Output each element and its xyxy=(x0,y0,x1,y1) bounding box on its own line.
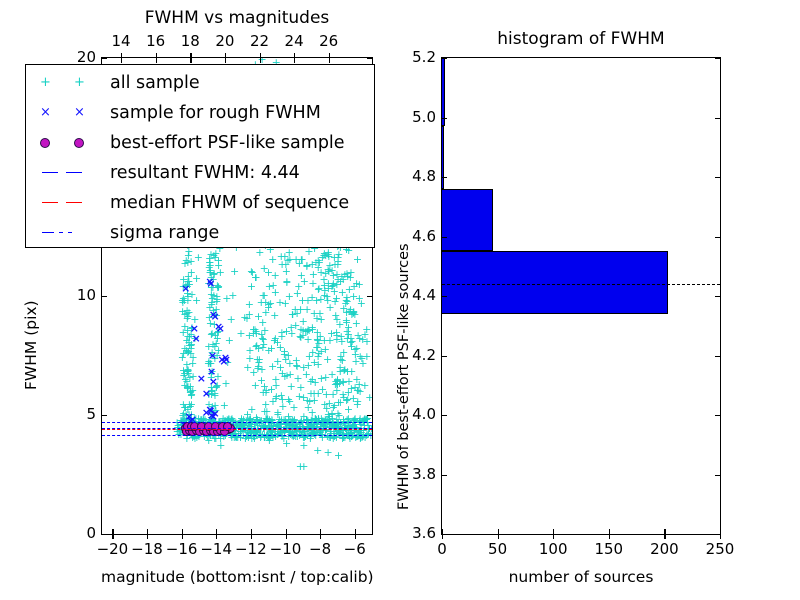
scatter-point-all: + xyxy=(206,250,215,259)
scatter-point-all: + xyxy=(338,377,347,386)
scatter-point-all: + xyxy=(353,255,362,264)
histogram-ytick xyxy=(715,356,720,357)
scatter-top-xtick-label: 20 xyxy=(211,34,239,49)
scatter-point-rough: × xyxy=(205,277,214,286)
scatter-point-all: + xyxy=(251,273,260,282)
scatter-point-all: + xyxy=(327,409,336,418)
scatter-point-all: + xyxy=(334,253,343,262)
scatter-point-all: + xyxy=(214,327,223,336)
scatter-point-all: + xyxy=(357,426,366,435)
scatter-point-all: + xyxy=(271,288,280,297)
scatter-point-all: + xyxy=(179,328,188,337)
scatter-point-all: + xyxy=(271,375,280,384)
scatter-point-all: + xyxy=(325,336,334,345)
scatter-point-all: + xyxy=(291,321,300,330)
scatter-point-all: + xyxy=(187,390,196,399)
scatter-point-all: + xyxy=(272,392,281,401)
scatter-point-all: + xyxy=(350,415,359,424)
scatter-point-all: + xyxy=(271,334,280,343)
scatter-point-all: + xyxy=(293,362,302,371)
scatter-point-all: + xyxy=(340,423,349,432)
scatter-point-all: + xyxy=(214,261,223,270)
scatter-point-all: + xyxy=(188,418,197,427)
scatter-point-all: + xyxy=(344,330,353,339)
scatter-xtick xyxy=(216,534,217,539)
scatter-point-all: + xyxy=(308,293,317,302)
scatter-point-all: + xyxy=(284,351,293,360)
scatter-xtick xyxy=(355,534,356,539)
scatter-point-all: + xyxy=(207,413,216,422)
scatter-point-all: + xyxy=(343,367,352,376)
scatter-point-all: + xyxy=(320,419,329,428)
scatter-point-all: + xyxy=(325,412,334,421)
scatter-point-all: + xyxy=(325,261,334,270)
scatter-point-all: + xyxy=(314,339,323,348)
scatter-top-xtick xyxy=(121,58,122,63)
scatter-point-all: + xyxy=(305,352,314,361)
scatter-point-all: + xyxy=(181,375,190,384)
scatter-point-all: + xyxy=(205,313,214,322)
scatter-point-all: + xyxy=(187,410,196,419)
scatter-point-all: + xyxy=(198,423,207,432)
scatter-point-all: + xyxy=(262,386,271,395)
scatter-point-all: + xyxy=(183,289,192,298)
legend-entry-label: all sample xyxy=(110,73,200,93)
scatter-point-all: + xyxy=(351,350,360,359)
scatter-point-all: + xyxy=(192,274,201,283)
scatter-point-all: + xyxy=(267,344,276,353)
scatter-point-all: + xyxy=(320,281,329,290)
scatter-point-all: + xyxy=(314,389,323,398)
scatter-point-all: + xyxy=(243,410,252,419)
scatter-point-all: + xyxy=(333,419,342,428)
scatter-point-all: + xyxy=(183,282,192,291)
histogram-bar xyxy=(442,251,668,314)
scatter-point-all: + xyxy=(318,418,327,427)
scatter-point-all: + xyxy=(349,292,358,301)
scatter-point-all: + xyxy=(324,279,333,288)
scatter-point-all: + xyxy=(342,308,351,317)
scatter-point-all: + xyxy=(324,252,333,261)
scatter-point-all: + xyxy=(182,309,191,318)
scatter-point-all: + xyxy=(178,298,187,307)
scatter-point-all: + xyxy=(336,398,345,407)
scatter-point-all: + xyxy=(179,371,188,380)
scatter-point-all: + xyxy=(325,399,334,408)
histogram-ytick xyxy=(442,534,447,535)
scatter-point-all: + xyxy=(346,305,355,314)
scatter-point-all: + xyxy=(331,377,340,386)
scatter-point-all: + xyxy=(186,349,195,358)
scatter-point-all: + xyxy=(212,311,221,320)
scatter-point-all: + xyxy=(280,350,289,359)
scatter-point-all: + xyxy=(255,248,264,257)
scatter-point-all: + xyxy=(321,345,330,354)
scatter-point-all: + xyxy=(259,291,268,300)
scatter-point-all: + xyxy=(282,327,291,336)
scatter-point-all: + xyxy=(334,451,343,460)
scatter-point-all: + xyxy=(289,403,298,412)
scatter-point-all: + xyxy=(250,432,259,441)
scatter-point-all: + xyxy=(249,432,258,441)
scatter-point-all: + xyxy=(182,336,191,345)
scatter-point-all: + xyxy=(345,432,354,441)
scatter-point-all: + xyxy=(295,419,304,428)
scatter-point-all: + xyxy=(207,298,216,307)
scatter-point-all: + xyxy=(340,366,349,375)
scatter-point-all: + xyxy=(308,408,317,417)
scatter-point-all: + xyxy=(180,344,189,353)
scatter-point-all: + xyxy=(283,256,292,265)
scatter-point-all: + xyxy=(320,336,329,345)
scatter-point-all: + xyxy=(322,404,331,413)
scatter-point-all: + xyxy=(336,277,345,286)
scatter-point-all: + xyxy=(221,418,230,427)
scatter-point-all: + xyxy=(184,338,193,347)
scatter-point-rough: × xyxy=(217,355,226,364)
scatter-point-rough: × xyxy=(221,353,230,362)
scatter-point-all: + xyxy=(299,433,308,442)
scatter-point-all: + xyxy=(225,415,234,424)
scatter-point-all: + xyxy=(264,433,273,442)
scatter-point-all: + xyxy=(249,329,258,338)
scatter-ytick xyxy=(367,534,372,535)
scatter-point-all: + xyxy=(204,389,213,398)
scatter-point-all: + xyxy=(186,388,195,397)
scatter-point-all: + xyxy=(257,376,266,385)
scatter-point-all: + xyxy=(245,300,254,309)
scatter-point-all: + xyxy=(331,311,340,320)
scatter-point-all: + xyxy=(314,263,323,272)
scatter-point-all: + xyxy=(183,296,192,305)
scatter-point-all: + xyxy=(313,446,322,455)
scatter-point-all: + xyxy=(352,279,361,288)
scatter-point-rough: × xyxy=(219,357,228,366)
histogram-ytick xyxy=(442,237,447,238)
scatter-point-all: + xyxy=(260,382,269,391)
scatter-point-all: + xyxy=(182,410,191,419)
scatter-point-all: + xyxy=(300,433,309,442)
scatter-point-all: + xyxy=(267,426,276,435)
scatter-ytick xyxy=(102,534,107,535)
scatter-point-all: + xyxy=(344,388,353,397)
scatter-point-all: + xyxy=(210,391,219,400)
histogram-ytick-label: 4.6 xyxy=(398,229,436,244)
scatter-point-all: + xyxy=(298,331,307,340)
dashed-line-icon xyxy=(42,172,58,173)
scatter-point-all: + xyxy=(324,448,333,457)
scatter-point-all: + xyxy=(340,365,349,374)
scatter-point-all: + xyxy=(317,374,326,383)
scatter-point-all: + xyxy=(357,433,366,442)
scatter-point-all: + xyxy=(330,260,339,269)
scatter-point-all: + xyxy=(335,411,344,420)
scatter-point-all: + xyxy=(320,286,329,295)
histogram-bar xyxy=(442,189,493,252)
histogram-ytick xyxy=(715,296,720,297)
scatter-point-all: + xyxy=(179,409,188,418)
scatter-point-all: + xyxy=(319,419,328,428)
scatter-point-all: + xyxy=(347,342,356,351)
legend-symbol xyxy=(32,218,110,248)
scatter-ylabel: FWHM (pix) xyxy=(22,300,40,390)
scatter-point-all: + xyxy=(305,326,314,335)
scatter-point-all: + xyxy=(265,433,274,442)
scatter-point-all: + xyxy=(183,326,192,335)
scatter-point-all: + xyxy=(347,310,356,319)
scatter-point-all: + xyxy=(278,369,287,378)
histogram-ytick-label: 4.2 xyxy=(398,348,436,363)
scatter-point-all: + xyxy=(351,345,360,354)
scatter-point-all: + xyxy=(180,296,189,305)
scatter-point-all: + xyxy=(313,343,322,352)
scatter-point-all: + xyxy=(265,436,274,445)
scatter-point-all: + xyxy=(309,270,318,279)
scatter-point-all: + xyxy=(213,372,222,381)
scatter-point-all: + xyxy=(356,426,365,435)
scatter-point-all: + xyxy=(262,415,271,424)
scatter-point-all: + xyxy=(357,299,366,308)
scatter-xtick-label: −14 xyxy=(200,542,232,557)
scatter-point-all: + xyxy=(186,382,195,391)
scatter-point-all: + xyxy=(248,268,257,277)
scatter-point-all: + xyxy=(362,352,371,361)
scatter-point-all: + xyxy=(281,355,290,364)
scatter-point-all: + xyxy=(281,299,290,308)
scatter-point-all: + xyxy=(212,305,221,314)
histogram-ytick-label: 4.4 xyxy=(398,288,436,303)
scatter-point-all: + xyxy=(236,329,245,338)
scatter-point-all: + xyxy=(334,275,343,284)
scatter-point-all: + xyxy=(261,298,270,307)
scatter-point-all: + xyxy=(242,432,251,441)
scatter-point-all: + xyxy=(332,386,341,395)
scatter-point-all: + xyxy=(207,300,216,309)
scatter-point-all: + xyxy=(304,403,313,412)
scatter-point-all: + xyxy=(302,261,311,270)
scatter-point-all: + xyxy=(348,423,357,432)
scatter-point-all: + xyxy=(318,416,327,425)
scatter-point-all: + xyxy=(266,432,275,441)
scatter-point-all: + xyxy=(288,310,297,319)
scatter-point-all: + xyxy=(303,327,312,336)
scatter-point-all: + xyxy=(335,379,344,388)
scatter-top-xtick-label: 24 xyxy=(280,34,308,49)
scatter-point-all: + xyxy=(253,416,262,425)
scatter-top-xtick xyxy=(260,53,261,58)
scatter-point-all: + xyxy=(226,419,235,428)
scatter-point-all: + xyxy=(250,325,259,334)
histogram-ytick-label: 5.2 xyxy=(398,50,436,65)
scatter-point-all: + xyxy=(185,400,194,409)
histogram-bar xyxy=(442,58,445,126)
scatter-point-all: + xyxy=(200,432,209,441)
scatter-point-all: + xyxy=(238,419,247,428)
scatter-point-all: + xyxy=(187,268,196,277)
histogram-ytick-label: 5.0 xyxy=(398,110,436,125)
scatter-point-all: + xyxy=(289,432,298,441)
scatter-point-all: + xyxy=(314,349,323,358)
scatter-point-all: + xyxy=(185,332,194,341)
scatter-point-all: + xyxy=(213,295,222,304)
scatter-point-all: + xyxy=(342,429,351,438)
legend-entry-label: best-effort PSF-like sample xyxy=(110,133,345,153)
scatter-point-all: + xyxy=(214,430,223,439)
histogram-ytick xyxy=(442,415,447,416)
scatter-point-all: + xyxy=(251,381,260,390)
scatter-point-all: + xyxy=(277,252,286,261)
scatter-point-all: + xyxy=(313,336,322,345)
scatter-point-all: + xyxy=(173,418,182,427)
histogram-xlabel: number of sources xyxy=(441,568,721,586)
scatter-point-all: + xyxy=(267,419,276,428)
scatter-point-all: + xyxy=(225,336,234,345)
scatter-point-rough: × xyxy=(192,334,201,343)
scatter-point-all: + xyxy=(359,426,368,435)
scatter-point-all: + xyxy=(227,315,236,324)
scatter-xtick xyxy=(286,534,287,539)
scatter-point-all: + xyxy=(282,278,291,287)
scatter-point-all: + xyxy=(313,335,322,344)
scatter-point-all: + xyxy=(252,415,261,424)
scatter-point-all: + xyxy=(318,253,327,262)
scatter-point-all: + xyxy=(343,272,352,281)
scatter-point-all: + xyxy=(285,415,294,424)
scatter-point-all: + xyxy=(208,386,217,395)
scatter-point-all: + xyxy=(304,247,313,256)
scatter-top-xtick xyxy=(190,53,191,58)
histogram-xtick-label: 50 xyxy=(480,542,516,557)
scatter-point-all: + xyxy=(346,334,355,343)
scatter-point-all: + xyxy=(253,355,262,364)
scatter-point-all: + xyxy=(268,362,277,371)
scatter-top-xtick-label: 22 xyxy=(246,34,274,49)
scatter-point-all: + xyxy=(295,392,304,401)
histogram-ytick-label: 4.0 xyxy=(398,407,436,422)
scatter-point-all: + xyxy=(212,292,221,301)
scatter-point-all: + xyxy=(273,338,282,347)
histogram-ytick xyxy=(442,356,447,357)
histogram-ytick xyxy=(715,118,720,119)
scatter-point-all: + xyxy=(258,318,267,327)
scatter-point-all: + xyxy=(316,332,325,341)
scatter-point-all: + xyxy=(207,283,216,292)
scatter-point-all: + xyxy=(206,359,215,368)
scatter-point-all: + xyxy=(327,329,336,338)
scatter-point-all: + xyxy=(223,358,232,367)
scatter-point-all: + xyxy=(340,419,349,428)
scatter-point-all: + xyxy=(188,386,197,395)
scatter-point-all: + xyxy=(341,299,350,308)
scatter-point-all: + xyxy=(319,251,328,260)
scatter-point-all: + xyxy=(328,370,337,379)
histogram-xtick xyxy=(553,534,554,539)
scatter-point-all: + xyxy=(273,430,282,439)
scatter-point-all: + xyxy=(182,360,191,369)
scatter-point-all: + xyxy=(212,383,221,392)
scatter-point-all: + xyxy=(228,426,237,435)
scatter-point-all: + xyxy=(339,304,348,313)
scatter-point-all: + xyxy=(180,259,189,268)
scatter-xtick-label: −12 xyxy=(235,542,267,557)
legend-entry-label: sample for rough FWHM xyxy=(110,103,321,123)
scatter-point-rough: × xyxy=(209,412,218,421)
scatter-point-all: + xyxy=(179,275,188,284)
scatter-point-all: + xyxy=(182,367,191,376)
scatter-point-all: + xyxy=(256,432,265,441)
scatter-point-all: + xyxy=(277,328,286,337)
scatter-point-all: + xyxy=(257,365,266,374)
scatter-point-all: + xyxy=(356,352,365,361)
scatter-point-all: + xyxy=(205,303,214,312)
scatter-point-all: + xyxy=(352,319,361,328)
scatter-point-all: + xyxy=(321,373,330,382)
scatter-point-all: + xyxy=(335,320,344,329)
scatter-point-all: + xyxy=(326,303,335,312)
histogram-ytick xyxy=(442,177,447,178)
scatter-point-all: + xyxy=(176,426,185,435)
scatter-point-all: + xyxy=(342,426,351,435)
scatter-point-all: + xyxy=(176,416,185,425)
scatter-point-all: + xyxy=(209,306,218,315)
scatter-point-all: + xyxy=(261,400,270,409)
scatter-point-all: + xyxy=(346,338,355,347)
scatter-point-all: + xyxy=(260,407,269,416)
histogram-xtick-label: 100 xyxy=(535,542,571,557)
scatter-point-all: + xyxy=(260,326,269,335)
scatter-point-all: + xyxy=(254,312,263,321)
scatter-point-all: + xyxy=(189,353,198,362)
scatter-point-all: + xyxy=(233,433,242,442)
scatter-point-all: + xyxy=(306,429,315,438)
histogram-xtick xyxy=(720,534,721,539)
dashdot-line-icon xyxy=(42,232,54,233)
legend-symbol xyxy=(32,158,110,188)
scatter-point-all: + xyxy=(208,340,217,349)
scatter-point-all: + xyxy=(321,415,330,424)
scatter-point-all: + xyxy=(252,329,261,338)
scatter-point-all: + xyxy=(263,430,272,439)
scatter-top-xtick xyxy=(329,53,330,58)
scatter-point-all: + xyxy=(336,419,345,428)
scatter-point-all: + xyxy=(254,344,263,353)
scatter-point-all: + xyxy=(328,410,337,419)
scatter-point-all: + xyxy=(356,418,365,427)
scatter-point-all: + xyxy=(205,254,214,263)
scatter-point-all: + xyxy=(210,269,219,278)
scatter-point-all: + xyxy=(207,390,216,399)
scatter-point-all: + xyxy=(224,416,233,425)
scatter-ytick xyxy=(102,296,107,297)
scatter-point-all: + xyxy=(303,416,312,425)
scatter-point-all: + xyxy=(306,432,315,441)
scatter-point-all: + xyxy=(207,290,216,299)
scatter-point-all: + xyxy=(194,253,203,262)
histogram-xtick xyxy=(664,534,665,539)
scatter-point-all: + xyxy=(208,367,217,376)
scatter-point-all: + xyxy=(214,346,223,355)
scatter-point-all: + xyxy=(337,332,346,341)
scatter-point-all: + xyxy=(271,394,280,403)
scatter-point-all: + xyxy=(285,255,294,264)
scatter-point-all: + xyxy=(184,247,193,256)
scatter-point-all: + xyxy=(184,369,193,378)
scatter-ytick-label: 20 xyxy=(62,50,96,65)
scatter-point-all: + xyxy=(284,412,293,421)
scatter-point-rough: × xyxy=(207,367,216,376)
scatter-point-all: + xyxy=(206,319,215,328)
scatter-point-all: + xyxy=(257,298,266,307)
